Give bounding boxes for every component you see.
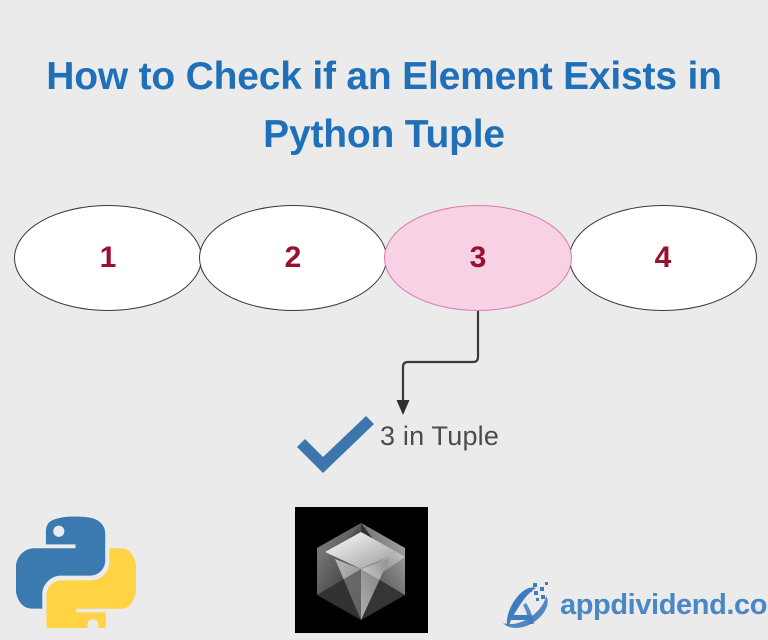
appdividend-wordmark: appdividend.com [560, 589, 768, 622]
result-caption: 3 in Tuple [380, 421, 499, 452]
tuple-element-2[interactable]: 2 [199, 205, 387, 311]
tuple-element-label: 1 [100, 243, 117, 273]
cube-thumbnail [295, 507, 428, 633]
tuple-elements-row: 1 2 3 4 [0, 205, 768, 315]
elbow-arrow-icon [380, 305, 510, 423]
page-title-line-1: How to Check if an Element Exists in [0, 48, 768, 106]
appdividend-mark-icon [500, 579, 554, 631]
poster-canvas: How to Check if an Element Exists in Pyt… [0, 0, 768, 640]
tuple-element-3-highlighted[interactable]: 3 [384, 205, 572, 311]
cube-icon [295, 507, 428, 633]
check-icon [292, 414, 378, 474]
page-title-line-2: Python Tuple [0, 106, 768, 164]
tuple-element-label: 4 [655, 243, 672, 273]
appdividend-logo[interactable]: appdividend.com [500, 578, 768, 632]
tuple-element-label: 2 [285, 243, 302, 273]
tuple-element-1[interactable]: 1 [14, 205, 202, 311]
python-logo-icon [16, 508, 136, 628]
tuple-element-label: 3 [470, 243, 487, 273]
page-title: How to Check if an Element Exists in Pyt… [0, 48, 768, 164]
tuple-element-4[interactable]: 4 [569, 205, 757, 311]
